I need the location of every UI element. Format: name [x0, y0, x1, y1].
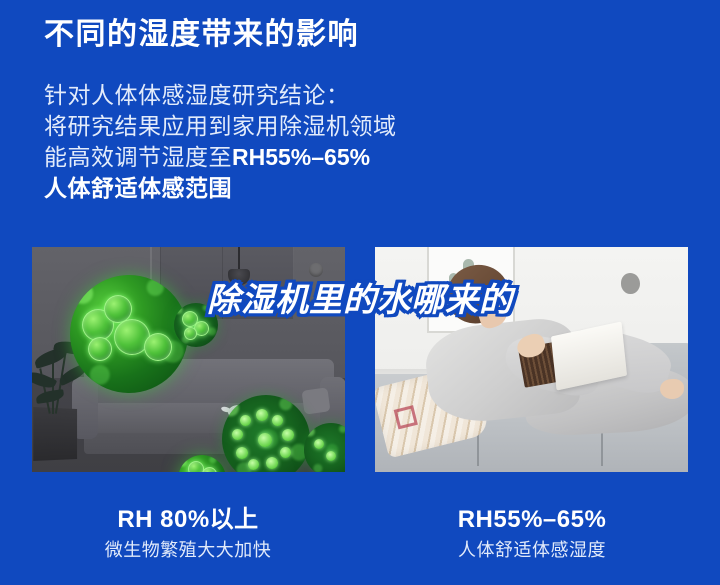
intro-line-2: 将研究结果应用到家用除湿机领域: [44, 111, 644, 142]
humidity-infographic-poster: 不同的湿度带来的影响 针对人体体感湿度研究结论： 将研究结果应用到家用除湿机领域…: [0, 0, 720, 585]
caption-right-title: RH55%–65%: [382, 505, 682, 535]
virus-spike-5: [266, 457, 278, 469]
intro-line-3-prefix: 能高效调节湿度至: [44, 144, 232, 170]
virus-spike-11: [314, 439, 324, 449]
plant-pot: [33, 407, 77, 461]
bacteria-sphere-bottom-edge: [178, 455, 226, 472]
virus-spike-1: [256, 409, 268, 421]
virus-spike-8: [232, 429, 243, 440]
virus-spike-6: [248, 459, 259, 470]
intro-line-3-rh-range: RH55%–65%: [232, 144, 370, 170]
caption-comfort-humidity: RH55%–65% 人体舒适体感湿度: [382, 505, 682, 562]
lamp-cord: [238, 247, 240, 271]
virus-spike-10: [258, 433, 272, 447]
caption-left-subtitle: 微生物繁殖大大加快: [38, 538, 338, 562]
virus-spike-9: [240, 415, 251, 426]
intro-line-3: 能高效调节湿度至RH55%–65%: [44, 142, 644, 173]
page-title: 不同的湿度带来的影响: [44, 16, 359, 54]
virus-spike-2: [272, 415, 283, 426]
virus-sphere-bottom: [222, 395, 310, 472]
person-foot: [660, 379, 684, 399]
intro-paragraph: 针对人体体感湿度研究结论： 将研究结果应用到家用除湿机领域 能高效调节湿度至RH…: [44, 80, 644, 204]
virus-sphere-bottom-right-edge: [304, 423, 345, 472]
virus-spike-7: [236, 447, 248, 459]
coccus-5: [88, 337, 112, 361]
plant-leaf-5: [35, 389, 64, 404]
coccus-9: [188, 461, 204, 472]
virus-spike-3: [282, 429, 294, 441]
virus-texture: [304, 423, 345, 472]
intro-line-1: 针对人体体感湿度研究结论：: [44, 80, 644, 111]
coccus-4: [144, 333, 172, 361]
virus-spike-4: [280, 447, 291, 458]
caption-right-subtitle: 人体舒适体感湿度: [382, 538, 682, 562]
coccus-8: [184, 327, 197, 340]
caption-left-title: RH 80%以上: [38, 505, 338, 535]
intro-line-4: 人体舒适体感范围: [44, 173, 644, 204]
overlay-title: 除湿机里的水哪来的: [0, 273, 720, 321]
virus-spike-12: [326, 451, 336, 461]
caption-high-humidity: RH 80%以上 微生物繁殖大大加快: [38, 505, 338, 562]
